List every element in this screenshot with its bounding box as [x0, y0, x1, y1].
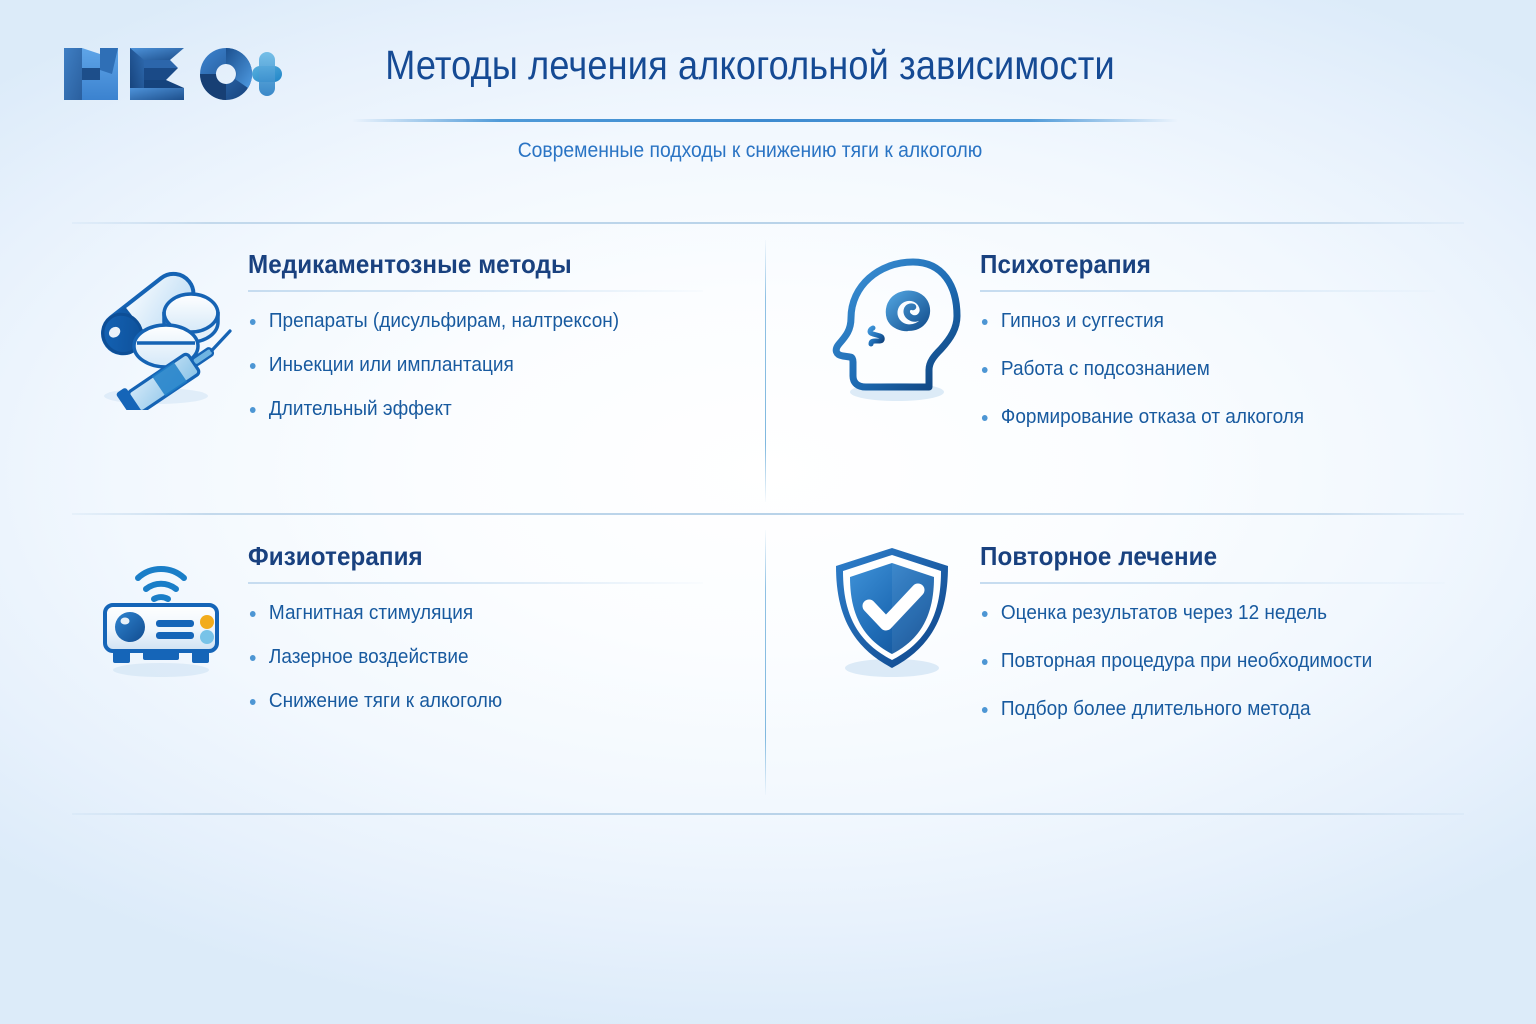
head-spiral-icon [812, 250, 972, 410]
indicator-light-blue [200, 630, 214, 644]
shield-check-icon [812, 540, 972, 700]
card-body: Психотерапия Гипноз и суггестия Работа с… [980, 248, 1472, 452]
list-item-label: Гипноз и суггестия [1001, 310, 1164, 332]
signal-waves [138, 569, 184, 599]
list-item-label: Работа с подсознанием [1001, 358, 1210, 380]
bullet-dot-icon [250, 407, 256, 413]
divider-vertical-lower [765, 530, 766, 795]
bullet-list: Гипноз и суггестия Работа с подсознанием… [980, 308, 1472, 430]
list-item: Снижение тяги к алкоголю [248, 688, 715, 714]
title-divider [352, 119, 1178, 122]
card-title-divider [980, 290, 1435, 292]
list-item: Работа с подсознанием [980, 356, 1447, 382]
bullet-dot-icon [982, 611, 988, 617]
card-body: Медикаментозные методы Препараты (дисуль… [248, 248, 740, 422]
bullet-list: Оценка результатов через 12 недель Повто… [980, 600, 1480, 722]
bullet-dot-icon [982, 707, 988, 713]
page-subtitle: Современные подходы к снижению тяги к ал… [336, 139, 1164, 163]
logo-plus [252, 52, 282, 96]
card-body: Повторное лечение Оценка результатов чер… [980, 540, 1480, 744]
logo-letter-e [130, 48, 184, 100]
card-title-divider [248, 290, 703, 292]
list-item: Подбор более длительного метода [980, 696, 1455, 722]
divider-vertical-upper [765, 240, 766, 502]
list-item: Магнитная стимуляция [248, 600, 715, 626]
card-physiotherapy: Физиотерапия Магнитная стимуляция Лазерн… [80, 540, 740, 795]
pills-syringe-icon [80, 250, 240, 410]
list-item-label: Подбор более длительного метода [1001, 698, 1311, 720]
list-item: Повторная процедура при необходимости [980, 648, 1455, 674]
card-title-divider [248, 582, 703, 584]
divider-bottom [72, 813, 1464, 815]
card-medication: Медикаментозные методы Препараты (дисуль… [80, 248, 740, 498]
bullet-dot-icon [982, 659, 988, 665]
header: Методы лечения алкогольной зависимости С… [0, 0, 1536, 200]
list-item: Длительный эффект [248, 396, 715, 422]
list-item-label: Иньекции или имплантация [269, 354, 514, 376]
infographic-page: Методы лечения алкогольной зависимости С… [0, 0, 1536, 1024]
card-psychotherapy: Психотерапия Гипноз и суггестия Работа с… [812, 248, 1472, 498]
list-item: Препараты (дисульфирам, налтрексон) [248, 308, 715, 334]
bullet-list: Препараты (дисульфирам, налтрексон) Инье… [248, 308, 740, 422]
card-title: Физиотерапия [248, 540, 706, 572]
divider-middle [72, 513, 1464, 515]
card-title-divider [980, 582, 1445, 584]
bullet-dot-icon [982, 319, 988, 325]
card-repeat-treatment: Повторное лечение Оценка результатов чер… [812, 540, 1472, 795]
list-item-label: Оценка результатов через 12 недель [1001, 602, 1327, 624]
list-item-label: Снижение тяги к алкоголю [269, 690, 502, 712]
list-item: Гипноз и суггестия [980, 308, 1447, 334]
bullet-dot-icon [250, 319, 256, 325]
bullet-dot-icon [250, 699, 256, 705]
logo-letter-o [200, 48, 252, 100]
list-item-label: Длительный эффект [269, 398, 452, 420]
wave-device-icon [80, 540, 240, 700]
card-title: Психотерапия [980, 248, 1438, 280]
indicator-light-amber [200, 615, 214, 629]
card-title: Повторное лечение [980, 540, 1445, 572]
card-body: Физиотерапия Магнитная стимуляция Лазерн… [248, 540, 740, 714]
list-item-label: Препараты (дисульфирам, налтрексон) [269, 310, 619, 332]
list-item-label: Формирование отказа от алкоголя [1001, 406, 1304, 428]
brand-logo [58, 40, 284, 108]
list-item-label: Повторная процедура при необходимости [1001, 650, 1372, 672]
page-title: Методы лечения алкогольной зависимости [354, 42, 1146, 89]
list-item-label: Лазерное воздействие [269, 646, 469, 668]
list-item: Формирование отказа от алкоголя [980, 404, 1447, 430]
bullet-dot-icon [250, 655, 256, 661]
list-item-label: Магнитная стимуляция [269, 602, 473, 624]
bullet-dot-icon [250, 363, 256, 369]
card-title: Медикаментозные методы [248, 248, 706, 280]
list-item: Иньекции или имплантация [248, 352, 715, 378]
bullet-dot-icon [982, 415, 988, 421]
bullet-dot-icon [250, 611, 256, 617]
list-item: Оценка результатов через 12 недель [980, 600, 1455, 626]
logo-letter-h [64, 48, 118, 100]
divider-top [72, 222, 1464, 224]
list-item: Лазерное воздействие [248, 644, 715, 670]
bullet-list: Магнитная стимуляция Лазерное воздействи… [248, 600, 740, 714]
bullet-dot-icon [982, 367, 988, 373]
